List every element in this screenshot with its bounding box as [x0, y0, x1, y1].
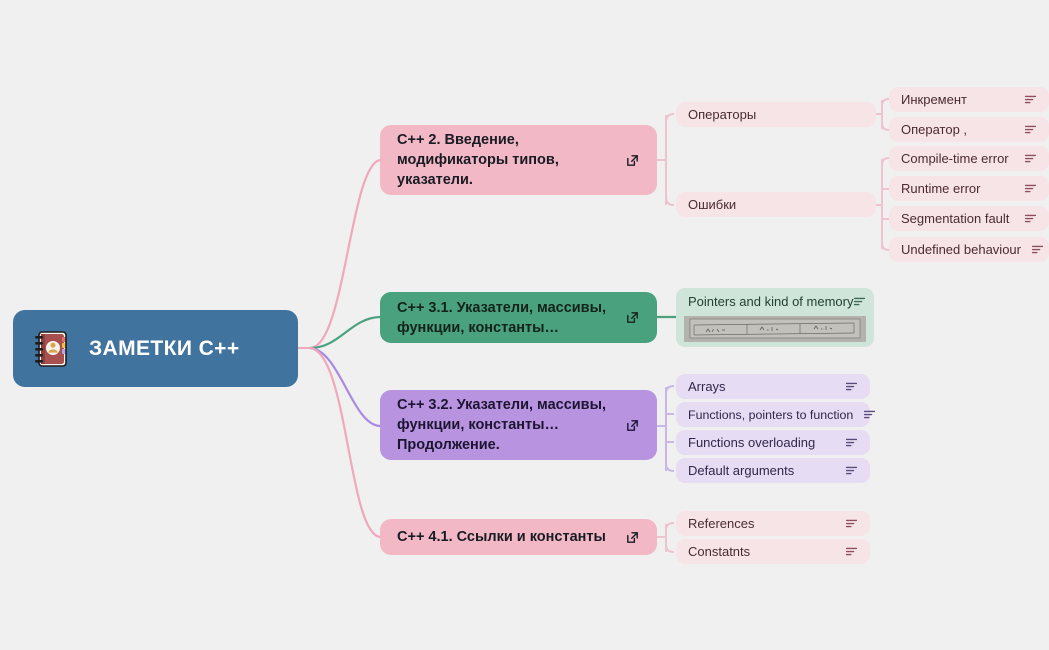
connector-cpp32-to-arrays — [666, 386, 674, 393]
note-icon[interactable] — [1031, 243, 1044, 256]
connector-operators-to-increment — [882, 99, 889, 106]
branch-node-cpp41[interactable]: C++ 4.1. Ссылки и константы — [380, 519, 657, 555]
note-icon[interactable] — [845, 464, 858, 477]
leaf-node-default-arguments[interactable]: Default arguments — [676, 458, 870, 483]
memory-segments-sketch-thumbnail[interactable] — [684, 316, 866, 342]
leaf-label-runtime-error: Runtime error — [901, 181, 1014, 196]
leaf-node-pointers-memory[interactable]: Pointers and kind of memory — [676, 288, 874, 347]
branch-node-cpp2[interactable]: C++ 2. Введение, модификаторы типов, ука… — [380, 125, 657, 195]
note-icon[interactable] — [863, 408, 876, 421]
connector-cpp41-to-constants — [666, 545, 674, 552]
leaf-node-increment[interactable]: Инкремент — [889, 87, 1049, 112]
connector-operators-to-comma — [882, 123, 889, 130]
connector-cpp41-to-references — [666, 523, 674, 530]
root-node[interactable]: ЗАМЕТКИ C++ — [13, 310, 298, 387]
leaf-node-constants[interactable]: Constatnts — [676, 539, 870, 564]
note-icon[interactable] — [1024, 93, 1037, 106]
external-link-icon[interactable] — [625, 418, 640, 433]
external-link-icon[interactable] — [625, 153, 640, 168]
root-label: ЗАМЕТКИ C++ — [89, 337, 240, 361]
note-icon[interactable] — [845, 380, 858, 393]
branch-label-cpp41: C++ 4.1. Ссылки и константы — [397, 527, 613, 547]
mindmap-canvas: ЗАМЕТКИ C++ C++ 2. Введение, модификатор… — [0, 0, 1049, 650]
connector-errors-to-compile — [882, 158, 889, 165]
connector-errors-to-undefined — [882, 243, 889, 250]
leaf-node-pointers-memory-row: Pointers and kind of memory — [676, 288, 874, 314]
note-icon[interactable] — [845, 545, 858, 558]
leaf-label-comma-operator: Оператор , — [901, 122, 1014, 137]
branch-node-cpp31[interactable]: C++ 3.1. Указатели, массивы, функции, ко… — [380, 292, 657, 343]
branch-label-cpp32: C++ 3.2. Указатели, массивы, функции, ко… — [397, 395, 613, 455]
leaf-label-default-arguments: Default arguments — [688, 463, 835, 478]
note-icon[interactable] — [1024, 123, 1037, 136]
connector-cpp2-to-operators — [666, 114, 674, 122]
subnode-operators[interactable]: Операторы — [676, 102, 876, 127]
leaf-label-arrays: Arrays — [688, 379, 835, 394]
note-icon[interactable] — [845, 436, 858, 449]
note-icon[interactable] — [1024, 152, 1037, 165]
leaf-label-references: References — [688, 516, 835, 531]
note-icon[interactable] — [845, 517, 858, 530]
note-icon[interactable] — [1024, 212, 1037, 225]
note-icon[interactable] — [853, 295, 866, 308]
leaf-node-functions-overloading[interactable]: Functions overloading — [676, 430, 870, 455]
connector-root-to-cpp41 — [310, 348, 380, 537]
leaf-label-functions-overloading: Functions overloading — [688, 435, 835, 450]
leaf-node-comma-operator[interactable]: Оператор , — [889, 117, 1049, 142]
leaf-label-segmentation-fault: Segmentation fault — [901, 211, 1014, 226]
branch-label-cpp2: C++ 2. Введение, модификаторы типов, ука… — [397, 130, 613, 190]
leaf-label-constants: Constatnts — [688, 544, 835, 559]
leaf-node-references[interactable]: References — [676, 511, 870, 536]
connector-root-to-cpp32 — [310, 348, 380, 426]
connector-root-to-cpp2 — [310, 160, 380, 348]
subnode-label-operators: Операторы — [688, 107, 864, 122]
subnode-errors[interactable]: Ошибки — [676, 192, 876, 217]
leaf-label-functions-pointers: Functions, pointers to function — [688, 408, 853, 422]
leaf-label-increment: Инкремент — [901, 92, 1014, 107]
leaf-label-undefined-behaviour: Undefined behaviour — [901, 242, 1021, 257]
leaf-node-compile-time-error[interactable]: Compile-time error — [889, 146, 1049, 171]
leaf-node-functions-pointers[interactable]: Functions, pointers to function — [676, 402, 870, 427]
thumbnail-wrapper — [676, 314, 874, 342]
notebook-icon — [31, 328, 73, 370]
connector-cpp32-to-defaultargs — [666, 464, 674, 471]
leaf-label-pointers-memory: Pointers and kind of memory — [688, 294, 853, 309]
branch-node-cpp32[interactable]: C++ 3.2. Указатели, массивы, функции, ко… — [380, 390, 657, 460]
leaf-node-runtime-error[interactable]: Runtime error — [889, 176, 1049, 201]
external-link-icon[interactable] — [625, 310, 640, 325]
subnode-label-errors: Ошибки — [688, 197, 864, 212]
connector-root-to-cpp31 — [310, 317, 380, 348]
leaf-node-arrays[interactable]: Arrays — [676, 374, 870, 399]
external-link-icon[interactable] — [625, 530, 640, 545]
connector-cpp2-to-errors — [666, 197, 674, 205]
leaf-label-compile-time-error: Compile-time error — [901, 151, 1014, 166]
leaf-node-segmentation-fault[interactable]: Segmentation fault — [889, 206, 1049, 231]
leaf-node-undefined-behaviour[interactable]: Undefined behaviour — [889, 237, 1049, 262]
branch-label-cpp31: C++ 3.1. Указатели, массивы, функции, ко… — [397, 298, 613, 338]
note-icon[interactable] — [1024, 182, 1037, 195]
